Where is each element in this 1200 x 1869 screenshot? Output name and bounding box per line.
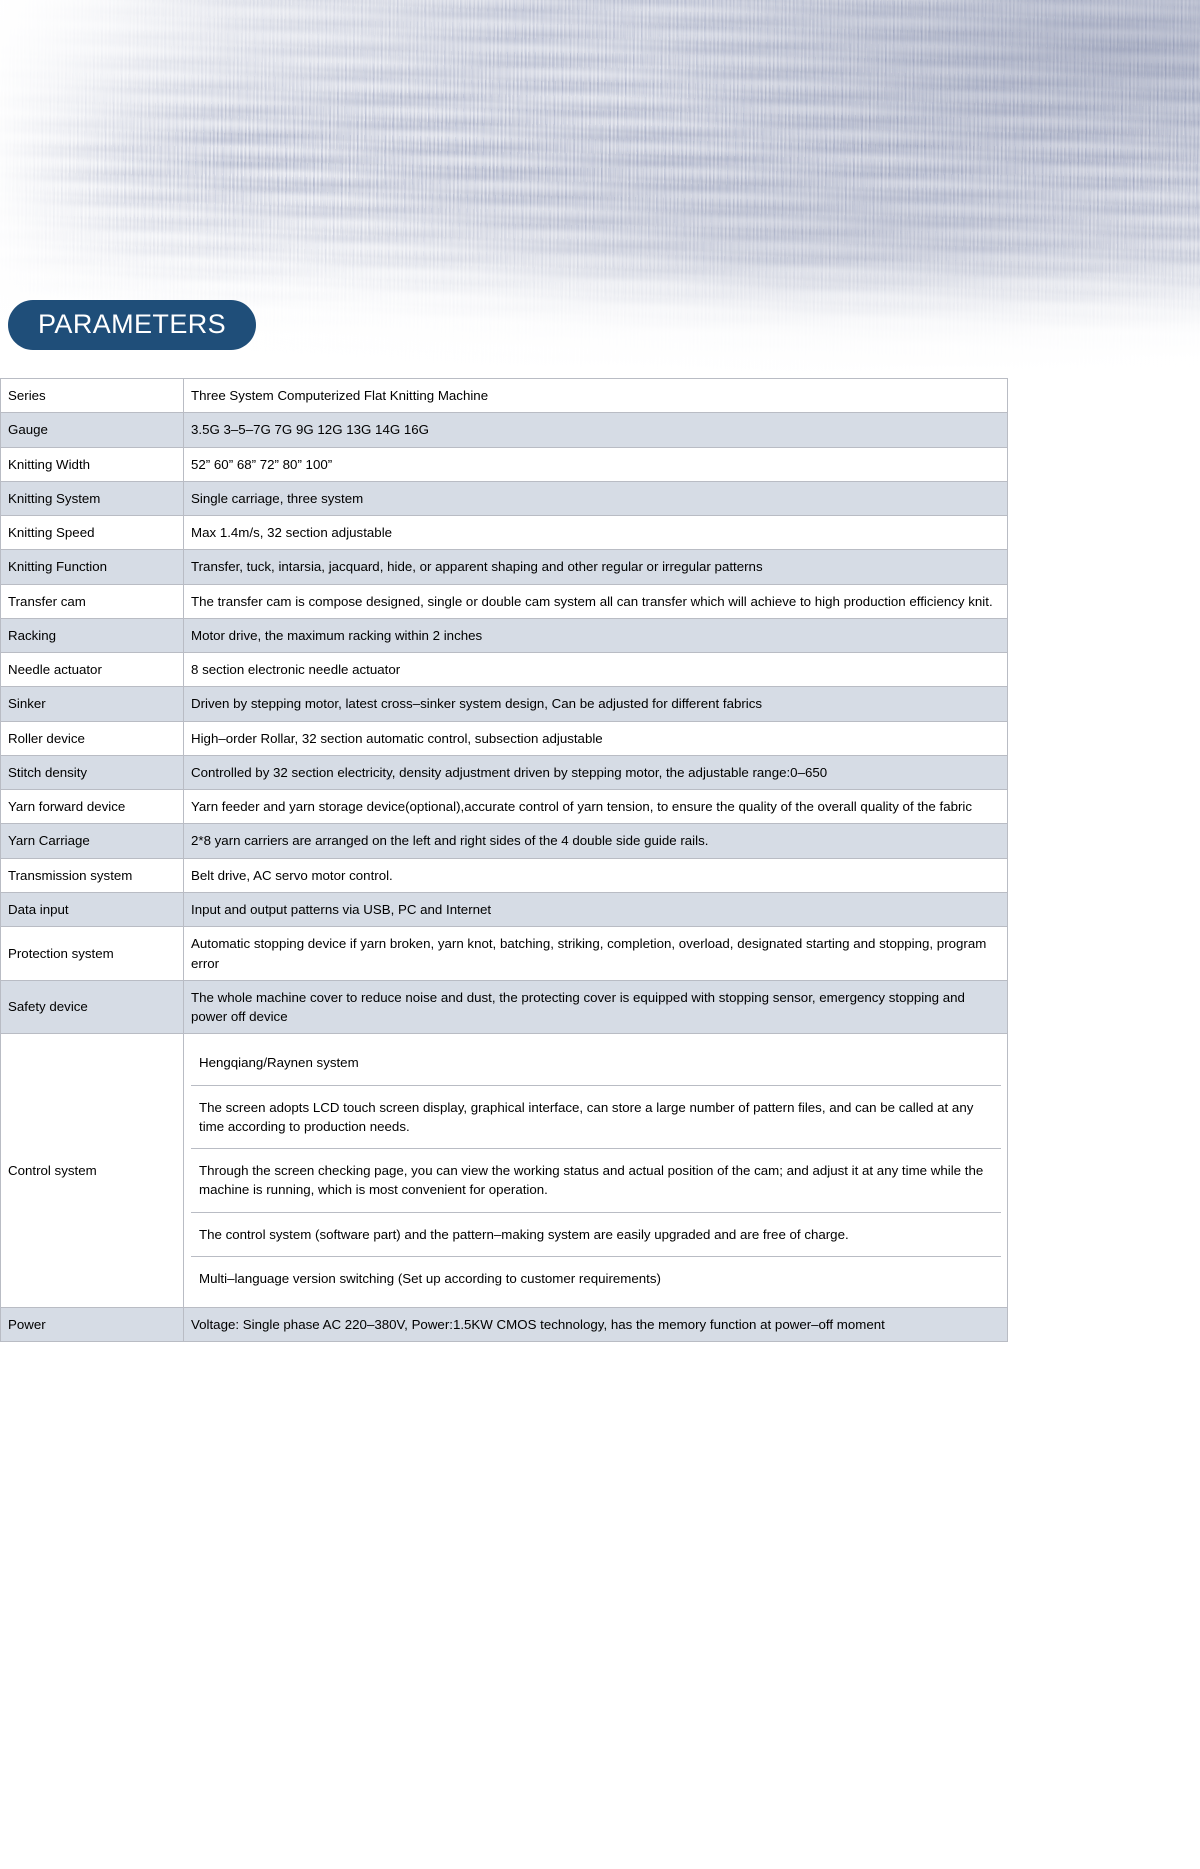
row-value: Input and output patterns via USB, PC an… bbox=[184, 892, 1008, 926]
table-row-power: Power Voltage: Single phase AC 220–380V,… bbox=[1, 1308, 1008, 1342]
row-value: Transfer, tuck, intarsia, jacquard, hide… bbox=[184, 550, 1008, 584]
table-row: Series Three System Computerized Flat Kn… bbox=[1, 379, 1008, 413]
row-label: Gauge bbox=[1, 413, 184, 447]
row-value: Belt drive, AC servo motor control. bbox=[184, 858, 1008, 892]
control-system-item: Hengqiang/Raynen system bbox=[191, 1041, 1001, 1085]
table-row: Yarn forward device Yarn feeder and yarn… bbox=[1, 790, 1008, 824]
row-value: Yarn feeder and yarn storage device(opti… bbox=[184, 790, 1008, 824]
row-label: Yarn Carriage bbox=[1, 824, 184, 858]
row-label: Protection system bbox=[1, 927, 184, 981]
row-label: Transmission system bbox=[1, 858, 184, 892]
row-value: Voltage: Single phase AC 220–380V, Power… bbox=[184, 1308, 1008, 1342]
table-row: Knitting Function Transfer, tuck, intars… bbox=[1, 550, 1008, 584]
row-value: 8 section electronic needle actuator bbox=[184, 653, 1008, 687]
control-system-item-text: Through the screen checking page, you ca… bbox=[191, 1149, 1001, 1213]
control-system-items: Hengqiang/Raynen system The screen adopt… bbox=[184, 1034, 1008, 1308]
table-row: Protection system Automatic stopping dev… bbox=[1, 927, 1008, 981]
row-label: Knitting Width bbox=[1, 447, 184, 481]
row-value: Single carriage, three system bbox=[184, 481, 1008, 515]
row-label: Transfer cam bbox=[1, 584, 184, 618]
table-row: Knitting System Single carriage, three s… bbox=[1, 481, 1008, 515]
control-system-item-text: Hengqiang/Raynen system bbox=[191, 1041, 1001, 1085]
row-value: Controlled by 32 section electricity, de… bbox=[184, 755, 1008, 789]
row-value: The transfer cam is compose designed, si… bbox=[184, 584, 1008, 618]
row-label: Knitting System bbox=[1, 481, 184, 515]
control-system-item: Multi–language version switching (Set up… bbox=[191, 1256, 1001, 1300]
row-label: Series bbox=[1, 379, 184, 413]
table-row: Data input Input and output patterns via… bbox=[1, 892, 1008, 926]
parameters-table: Series Three System Computerized Flat Kn… bbox=[0, 378, 1008, 1342]
table-row: Stitch density Controlled by 32 section … bbox=[1, 755, 1008, 789]
control-system-item: The screen adopts LCD touch screen displ… bbox=[191, 1085, 1001, 1149]
parameters-table-wrap: Series Three System Computerized Flat Kn… bbox=[0, 378, 1200, 1342]
row-label: Data input bbox=[1, 892, 184, 926]
parameters-table-body: Series Three System Computerized Flat Kn… bbox=[1, 379, 1008, 1342]
control-system-item-text: The screen adopts LCD touch screen displ… bbox=[191, 1085, 1001, 1149]
row-value: Automatic stopping device if yarn broken… bbox=[184, 927, 1008, 981]
table-row-control-system: Control system Hengqiang/Raynen system T… bbox=[1, 1034, 1008, 1308]
table-row: Needle actuator 8 section electronic nee… bbox=[1, 653, 1008, 687]
row-value: 3.5G 3–5–7G 7G 9G 12G 13G 14G 16G bbox=[184, 413, 1008, 447]
control-system-item-text: The control system (software part) and t… bbox=[191, 1212, 1001, 1256]
row-label: Racking bbox=[1, 618, 184, 652]
control-system-item: The control system (software part) and t… bbox=[191, 1212, 1001, 1256]
row-value: High–order Rollar, 32 section automatic … bbox=[184, 721, 1008, 755]
row-value: Motor drive, the maximum racking within … bbox=[184, 618, 1008, 652]
row-label: Needle actuator bbox=[1, 653, 184, 687]
table-row: Knitting Speed Max 1.4m/s, 32 section ad… bbox=[1, 516, 1008, 550]
row-label: Sinker bbox=[1, 687, 184, 721]
hero-banner: PARAMETERS bbox=[0, 0, 1200, 378]
table-row: Roller device High–order Rollar, 32 sect… bbox=[1, 721, 1008, 755]
table-row: Knitting Width 52” 60” 68” 72” 80” 100” bbox=[1, 447, 1008, 481]
row-value: 2*8 yarn carriers are arranged on the le… bbox=[184, 824, 1008, 858]
table-row: Yarn Carriage 2*8 yarn carriers are arra… bbox=[1, 824, 1008, 858]
table-row: Safety device The whole machine cover to… bbox=[1, 980, 1008, 1034]
control-system-subtable: Hengqiang/Raynen system The screen adopt… bbox=[191, 1041, 1001, 1300]
row-value: 52” 60” 68” 72” 80” 100” bbox=[184, 447, 1008, 481]
row-label: Stitch density bbox=[1, 755, 184, 789]
table-row: Sinker Driven by stepping motor, latest … bbox=[1, 687, 1008, 721]
row-value: Max 1.4m/s, 32 section adjustable bbox=[184, 516, 1008, 550]
parameters-badge: PARAMETERS bbox=[8, 300, 256, 350]
row-label: Control system bbox=[1, 1034, 184, 1308]
row-label: Roller device bbox=[1, 721, 184, 755]
table-row: Transmission system Belt drive, AC servo… bbox=[1, 858, 1008, 892]
row-label: Yarn forward device bbox=[1, 790, 184, 824]
table-row: Gauge 3.5G 3–5–7G 7G 9G 12G 13G 14G 16G bbox=[1, 413, 1008, 447]
row-value: Driven by stepping motor, latest cross–s… bbox=[184, 687, 1008, 721]
table-row: Transfer cam The transfer cam is compose… bbox=[1, 584, 1008, 618]
row-value: The whole machine cover to reduce noise … bbox=[184, 980, 1008, 1034]
control-system-item-text: Multi–language version switching (Set up… bbox=[191, 1256, 1001, 1300]
row-value: Three System Computerized Flat Knitting … bbox=[184, 379, 1008, 413]
table-row: Racking Motor drive, the maximum racking… bbox=[1, 618, 1008, 652]
row-label: Knitting Function bbox=[1, 550, 184, 584]
parameters-badge-wrap: PARAMETERS bbox=[8, 300, 256, 350]
row-label: Safety device bbox=[1, 980, 184, 1034]
row-label: Knitting Speed bbox=[1, 516, 184, 550]
control-system-item: Through the screen checking page, you ca… bbox=[191, 1149, 1001, 1213]
row-label: Power bbox=[1, 1308, 184, 1342]
